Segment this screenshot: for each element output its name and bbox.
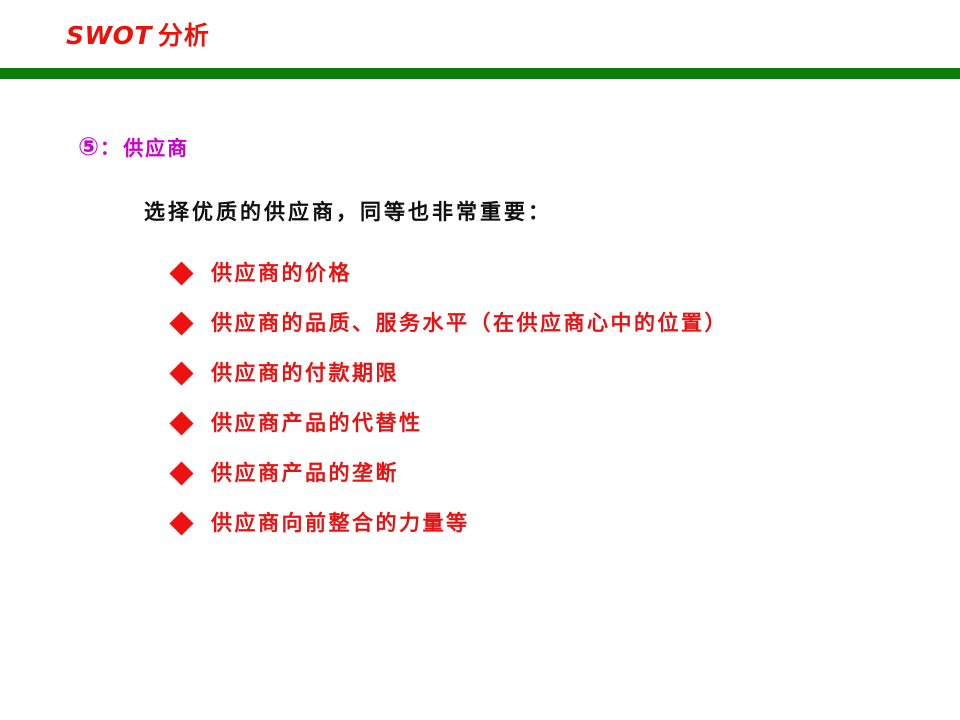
diamond-bullet-icon bbox=[169, 411, 193, 435]
list-item: 供应商的付款期限 bbox=[173, 348, 728, 398]
page-title-latin: SWOT bbox=[66, 21, 152, 50]
page-title-cjk: 分析 bbox=[158, 21, 210, 50]
list-item: 供应商的价格 bbox=[173, 248, 728, 298]
list-item: 供应商向前整合的力量等 bbox=[173, 498, 728, 548]
page-title: SWOT分析 bbox=[66, 22, 210, 50]
list-item: 供应商产品的垄断 bbox=[173, 448, 728, 498]
list-item-label: 供应商的付款期限 bbox=[211, 363, 399, 384]
diamond-bullet-icon bbox=[169, 311, 193, 335]
list-item-label: 供应商的价格 bbox=[211, 263, 352, 284]
diamond-bullet-icon bbox=[169, 461, 193, 485]
header-divider bbox=[0, 68, 960, 79]
diamond-bullet-icon bbox=[169, 511, 193, 535]
list-item-label: 供应商的品质、服务水平（在供应商心中的位置） bbox=[211, 313, 728, 334]
section-heading-label: 供应商 bbox=[123, 132, 189, 161]
diamond-bullet-icon bbox=[169, 361, 193, 385]
section-heading: ⑤ ： 供应商 bbox=[78, 132, 189, 161]
slide-body: ⑤ ： 供应商 选择优质的供应商，同等也非常重要： 供应商的价格 供应商的品质、… bbox=[0, 80, 960, 720]
list-item: 供应商产品的代替性 bbox=[173, 398, 728, 448]
list-item-label: 供应商产品的垄断 bbox=[211, 463, 399, 484]
diamond-bullet-icon bbox=[169, 261, 193, 285]
list-item: 供应商的品质、服务水平（在供应商心中的位置） bbox=[173, 298, 728, 348]
circled-number-icon: ⑤ bbox=[78, 134, 99, 159]
list-item-label: 供应商向前整合的力量等 bbox=[211, 513, 470, 534]
lead-paragraph: 选择优质的供应商，同等也非常重要： bbox=[144, 196, 552, 226]
list-item-label: 供应商产品的代替性 bbox=[211, 413, 423, 434]
supplier-bullet-list: 供应商的价格 供应商的品质、服务水平（在供应商心中的位置） 供应商的付款期限 供… bbox=[173, 248, 728, 548]
section-heading-colon: ： bbox=[100, 133, 119, 160]
slide-header: SWOT分析 bbox=[0, 0, 960, 80]
